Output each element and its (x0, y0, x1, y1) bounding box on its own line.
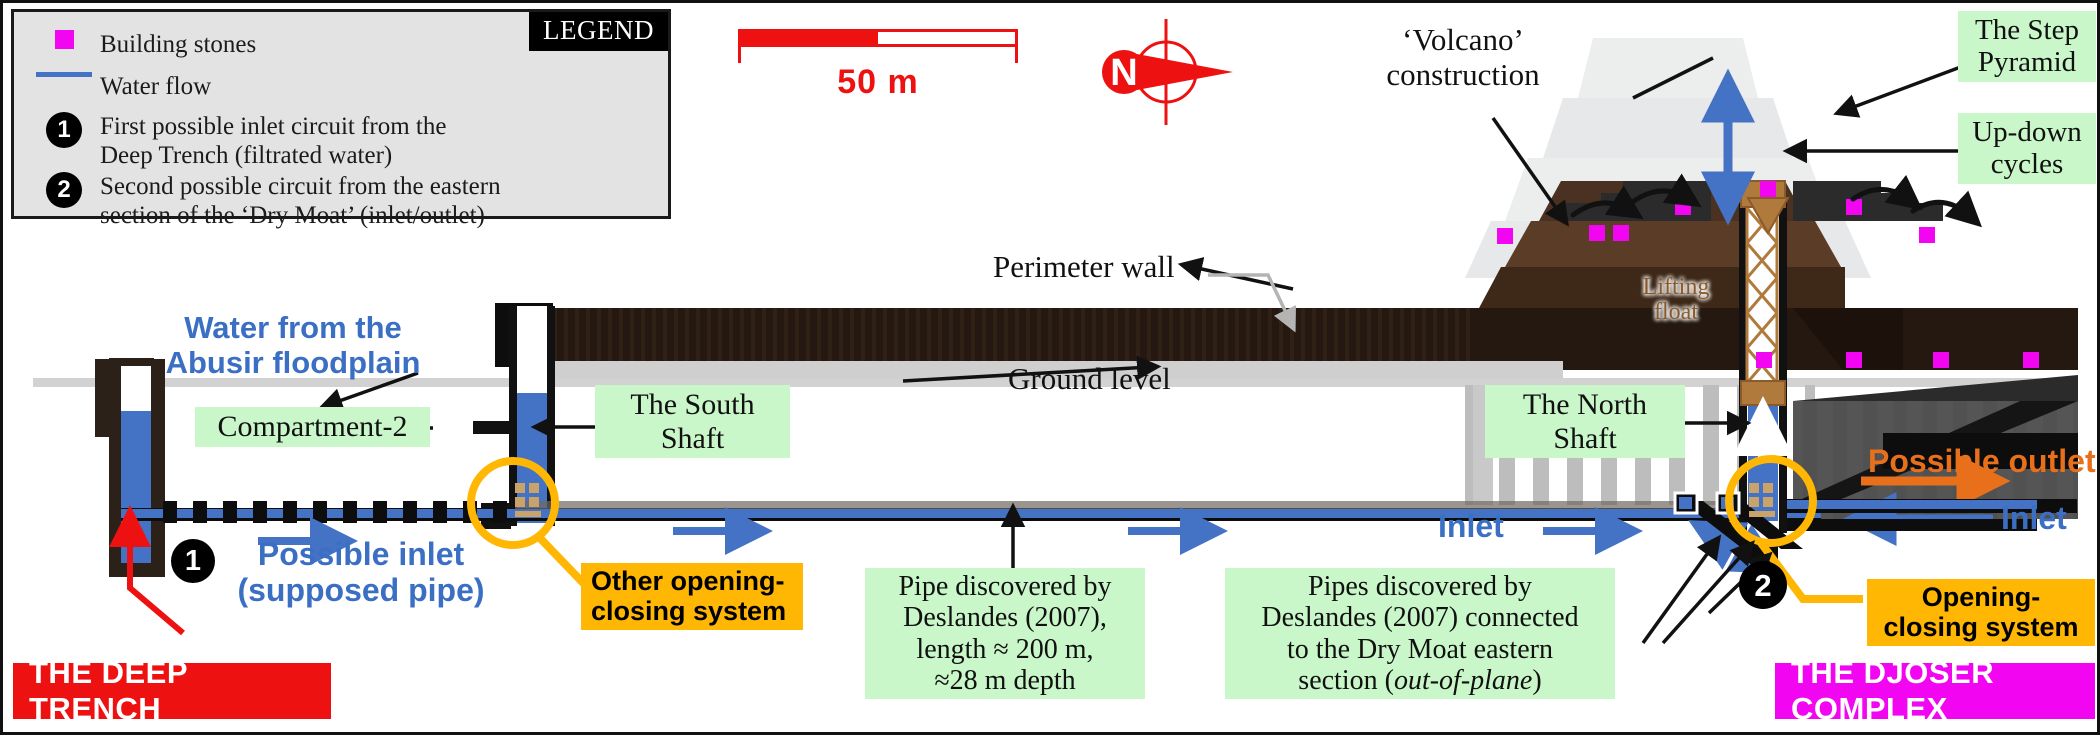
circled-one-label: 1 (46, 112, 82, 148)
callout-possible-inlet: Possible inlet (supposed pipe) (231, 537, 491, 609)
building-stones-swatch-icon (28, 30, 100, 49)
scale-tick-right (1015, 47, 1018, 63)
legend-item-water-flow: Water flow (28, 72, 211, 101)
callout-inlet-right: Inlet (2001, 501, 2067, 537)
pipes-dry-moat-line-2: Deslandes (2007) connected (1233, 602, 1607, 633)
callout-perimeter-wall: Perimeter wall (993, 249, 1175, 285)
legend-label-building-stones: Building stones (100, 30, 256, 59)
diagram-marker-2: 2 (1739, 561, 1787, 609)
lifting-float-bottom-block (1741, 381, 1785, 405)
callout-compartment-2: Compartment-2 (195, 407, 430, 447)
compass-rose: N (1091, 17, 1241, 127)
legend-title: LEGEND (529, 12, 668, 51)
pipes-dry-moat-line-1: Pipes discovered by (1233, 571, 1607, 602)
legend-label-circuit-2: Second possible circuit from the eastern… (100, 172, 501, 230)
circled-two-icon: 2 (28, 172, 100, 208)
legend-item-building-stones: Building stones (28, 30, 256, 59)
scale-bar-fill (741, 32, 878, 44)
trench-water-column (121, 411, 151, 571)
circled-two-label: 2 (46, 172, 82, 208)
pipes-dry-moat-prefix: section ( (1298, 665, 1394, 696)
callout-inlet-center: Inlet (1438, 509, 1504, 545)
legend-item-circuit-2: 2 Second possible circuit from the easte… (28, 172, 501, 230)
callout-pipes-dry-moat: Pipes discovered by Deslandes (2007) con… (1225, 568, 1615, 699)
legend-label-circuit-1: First possible inlet circuit from the De… (100, 112, 446, 170)
south-shaft-structure (473, 303, 555, 529)
diagram-marker-1: 1 (171, 539, 215, 583)
compass-north-label: N (1110, 52, 1137, 94)
callout-volcano-construction: ‘Volcano’ construction (1328, 23, 1598, 92)
callout-lifting-float: Lifting float (1621, 275, 1731, 325)
scale-bar-label: 50 m (738, 63, 1018, 102)
banner-deep-trench: THE DEEP TRENCH (13, 663, 331, 719)
legend-box: LEGEND Building stones Water flow 1 Firs… (11, 9, 671, 219)
banner-djoser-complex: THE DJOSER COMPLEX (1775, 663, 2095, 719)
pipes-dry-moat-line-3: to the Dry Moat eastern (1233, 634, 1607, 665)
scale-tick-left (738, 47, 741, 63)
callout-pipe-deslandes: Pipe discovered by Deslandes (2007), len… (865, 568, 1145, 699)
pipes-dry-moat-italic: out-of-plane (1394, 665, 1532, 696)
legend-item-circuit-1: 1 First possible inlet circuit from the … (28, 112, 446, 170)
diagram-canvas: LEGEND Building stones Water flow 1 Firs… (0, 0, 2100, 735)
callout-ground-level: Ground level (1008, 361, 1171, 397)
legend-label-water-flow: Water flow (100, 72, 211, 101)
pipes-dry-moat-line-4: section (out-of-plane) (1233, 665, 1607, 696)
callout-up-down-cycles: Up-down cycles (1958, 113, 2096, 184)
circled-one-icon: 1 (28, 112, 100, 148)
scale-bar-track (738, 29, 1018, 47)
callout-south-shaft: The South Shaft (595, 385, 790, 458)
pipes-dry-moat-suffix: ) (1532, 665, 1541, 696)
callout-other-opening-closing: Other opening- closing system (581, 563, 803, 630)
callout-water-from-floodplain: Water from the Abusir floodplain (163, 311, 423, 380)
scale-bar: 50 m (738, 29, 1018, 102)
callout-possible-outlet: Possible outlet (1868, 443, 2096, 480)
callout-north-shaft: The North Shaft (1485, 385, 1685, 458)
callout-step-pyramid: The Step Pyramid (1958, 11, 2096, 82)
callout-opening-closing: Opening- closing system (1867, 579, 2095, 646)
water-flow-line-icon (28, 72, 100, 77)
